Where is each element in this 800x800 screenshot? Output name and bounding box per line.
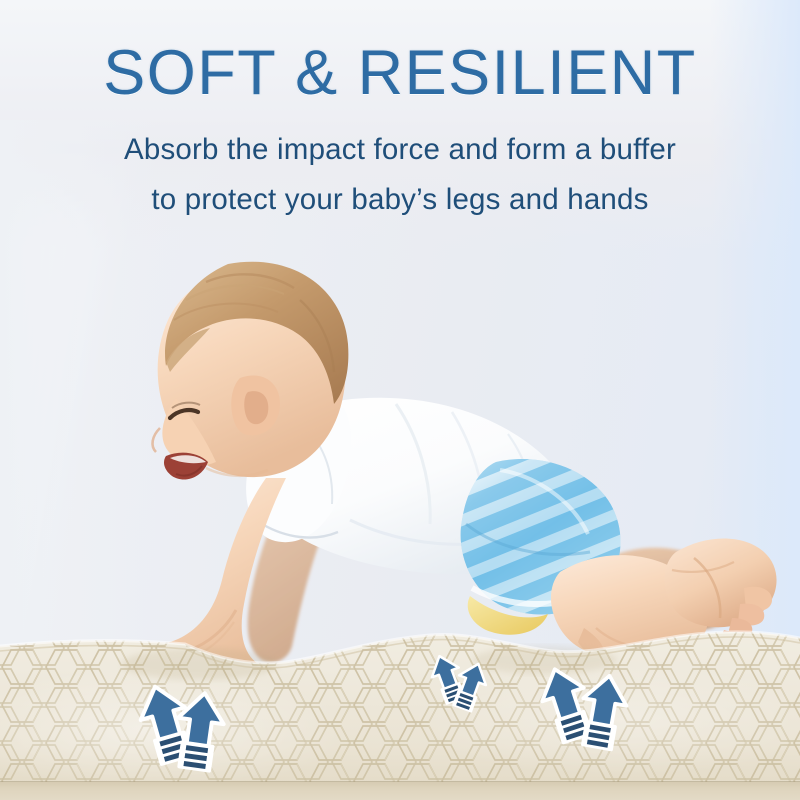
- product-feature-image: SOFT & RESILIENT Absorb the impact force…: [0, 0, 800, 800]
- baby-head: [153, 262, 349, 480]
- foam-play-mat: [0, 610, 800, 800]
- mat-honeycomb-pattern: [0, 610, 800, 800]
- mat-side-edge: [0, 782, 800, 800]
